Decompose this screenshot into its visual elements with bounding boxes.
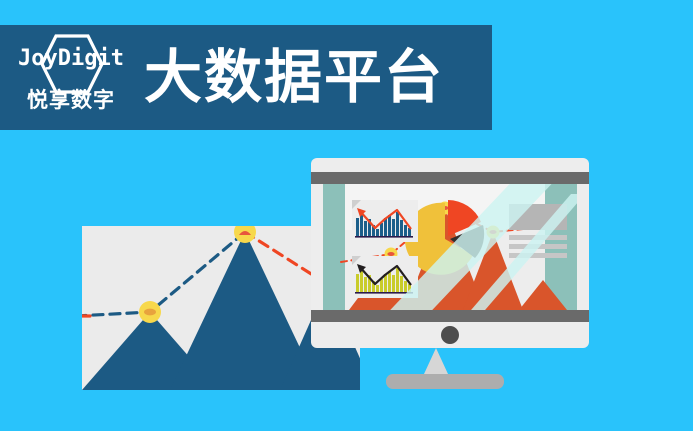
- data-node: [139, 301, 161, 323]
- monitor-bottom-bar: [311, 310, 589, 322]
- brand-logo: JoyDigit 悦享数字: [12, 32, 130, 124]
- desktop-monitor: [311, 158, 589, 348]
- monitor-top-bar: [311, 172, 589, 184]
- illustration-canvas: JoyDigit 悦享数字 大数据平台: [0, 0, 693, 431]
- bar-chart-card-blue: [352, 200, 418, 242]
- dashboard-graphics: [323, 184, 577, 310]
- header-banner: JoyDigit 悦享数字 大数据平台: [0, 25, 492, 130]
- monitor-power-indicator: [441, 326, 459, 344]
- monitor-stand-base: [386, 374, 504, 389]
- page-title: 大数据平台: [144, 49, 444, 107]
- monitor-screen: [323, 184, 577, 310]
- brand-wordmark: JoyDigit: [12, 48, 130, 70]
- monitor-stand-neck: [424, 348, 448, 374]
- brand-subtitle: 悦享数字: [12, 90, 130, 111]
